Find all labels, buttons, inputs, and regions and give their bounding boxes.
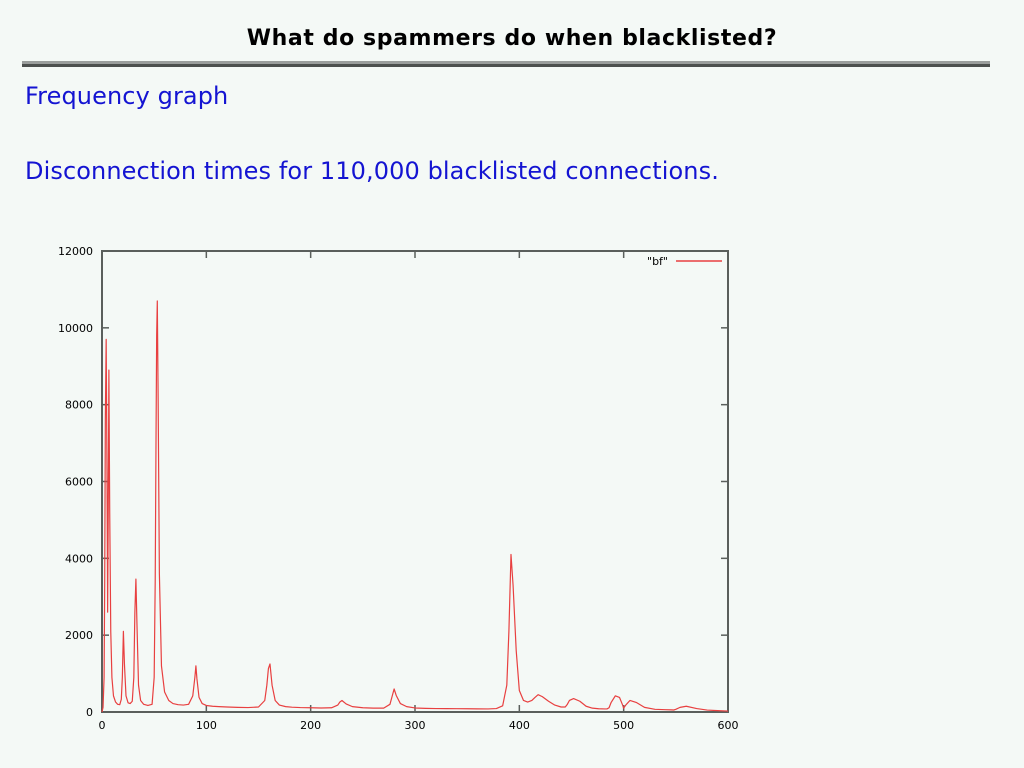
y-axis-tick-label: 2000 xyxy=(65,629,93,642)
chart-canvas: 020004000600080001000012000 010020030040… xyxy=(0,230,800,750)
y-axis-tick-label: 12000 xyxy=(58,245,93,258)
body-line-disconnection-times: Disconnection times for 110,000 blacklis… xyxy=(25,157,719,185)
y-axis-tick-label: 6000 xyxy=(65,476,93,489)
series-line-bf xyxy=(102,301,728,712)
plot-border xyxy=(102,251,728,712)
x-axis-tick-label: 100 xyxy=(196,719,217,732)
divider-shadow xyxy=(22,64,990,67)
chart-legend: "bf" xyxy=(647,255,722,268)
x-axis-tick-label: 300 xyxy=(405,719,426,732)
y-axis-tick-label: 8000 xyxy=(65,399,93,412)
chart-frame xyxy=(102,251,728,712)
y-axis-tick-label: 10000 xyxy=(58,322,93,335)
y-axis-tick-label: 4000 xyxy=(65,552,93,565)
x-axis-tick-label: 400 xyxy=(509,719,530,732)
body-line-frequency-graph: Frequency graph xyxy=(25,82,228,110)
page-title: What do spammers do when blacklisted? xyxy=(0,26,1024,51)
x-axis-tick-label: 200 xyxy=(300,719,321,732)
x-axis-ticks: 0100200300400500600 xyxy=(99,251,739,732)
data-series-group xyxy=(102,301,728,712)
legend-label-bf: "bf" xyxy=(647,255,668,268)
frequency-chart: 020004000600080001000012000 010020030040… xyxy=(0,230,800,750)
x-axis-tick-label: 600 xyxy=(718,719,739,732)
y-axis-tick-label: 0 xyxy=(86,706,93,719)
x-axis-tick-label: 0 xyxy=(99,719,106,732)
title-divider xyxy=(22,61,990,67)
x-axis-tick-label: 500 xyxy=(613,719,634,732)
